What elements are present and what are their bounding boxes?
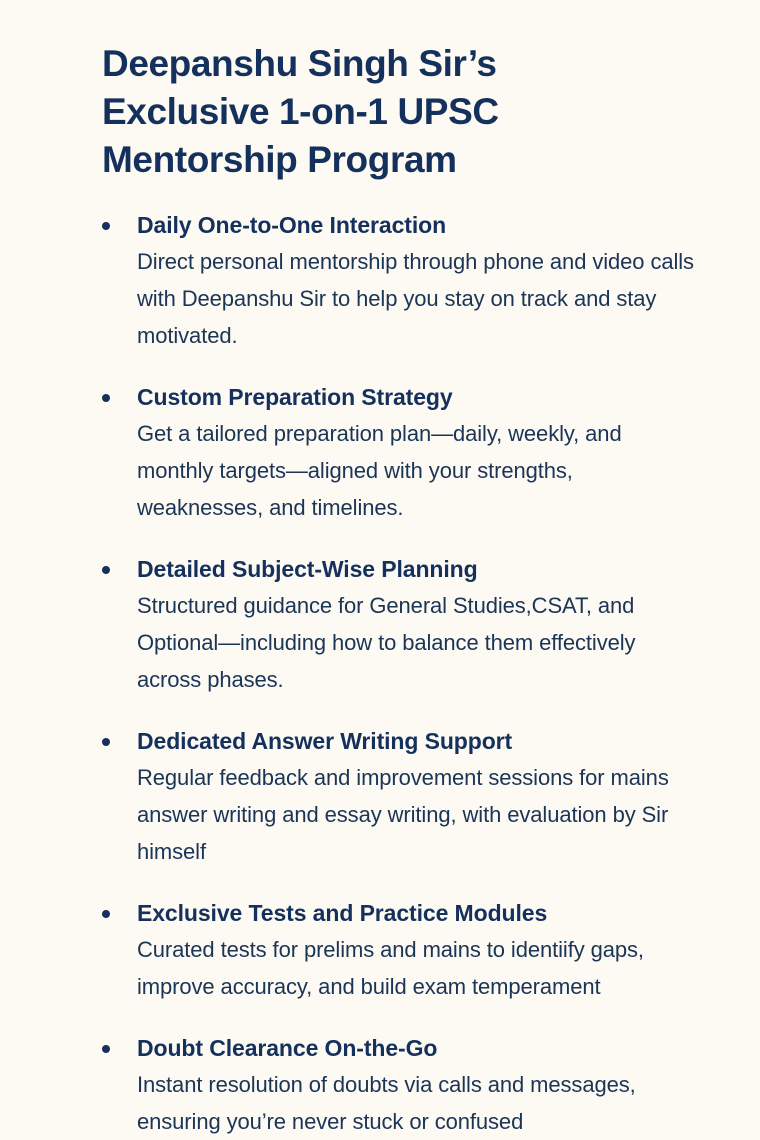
feature-heading: Doubt Clearance On-the-Go: [137, 1033, 700, 1064]
feature-description: Instant resolution of doubts via calls a…: [137, 1066, 700, 1140]
feature-heading: Custom Preparation Strategy: [137, 382, 700, 413]
page-title: Deepanshu Singh Sir’s Exclusive 1-on-1 U…: [102, 40, 572, 184]
list-item: Daily One-to-One Interaction Direct pers…: [102, 210, 700, 354]
feature-description: Curated tests for prelims and mains to i…: [137, 931, 700, 1005]
list-item: Doubt Clearance On-the-Go Instant resolu…: [102, 1033, 700, 1140]
list-item: Detailed Subject-Wise Planning Structure…: [102, 554, 700, 698]
bullet-dot-icon: [102, 222, 110, 230]
feature-description: Direct personal mentorship through phone…: [137, 243, 700, 354]
list-item: Dedicated Answer Writing Support Regular…: [102, 726, 700, 870]
feature-heading: Exclusive Tests and Practice Modules: [137, 898, 700, 929]
feature-list: Daily One-to-One Interaction Direct pers…: [102, 210, 700, 1140]
bullet-dot-icon: [102, 394, 110, 402]
bullet-dot-icon: [102, 566, 110, 574]
feature-description: Regular feedback and improvement session…: [137, 759, 700, 870]
promo-page: Deepanshu Singh Sir’s Exclusive 1-on-1 U…: [0, 0, 760, 1140]
bullet-dot-icon: [102, 738, 110, 746]
bullet-dot-icon: [102, 910, 110, 918]
list-item: Exclusive Tests and Practice Modules Cur…: [102, 898, 700, 1005]
list-item: Custom Preparation Strategy Get a tailor…: [102, 382, 700, 526]
feature-description: Structured guidance for General Studies,…: [137, 587, 700, 698]
bullet-dot-icon: [102, 1045, 110, 1053]
feature-heading: Detailed Subject-Wise Planning: [137, 554, 700, 585]
feature-heading: Daily One-to-One Interaction: [137, 210, 700, 241]
feature-heading: Dedicated Answer Writing Support: [137, 726, 700, 757]
feature-description: Get a tailored preparation plan—daily, w…: [137, 415, 700, 526]
